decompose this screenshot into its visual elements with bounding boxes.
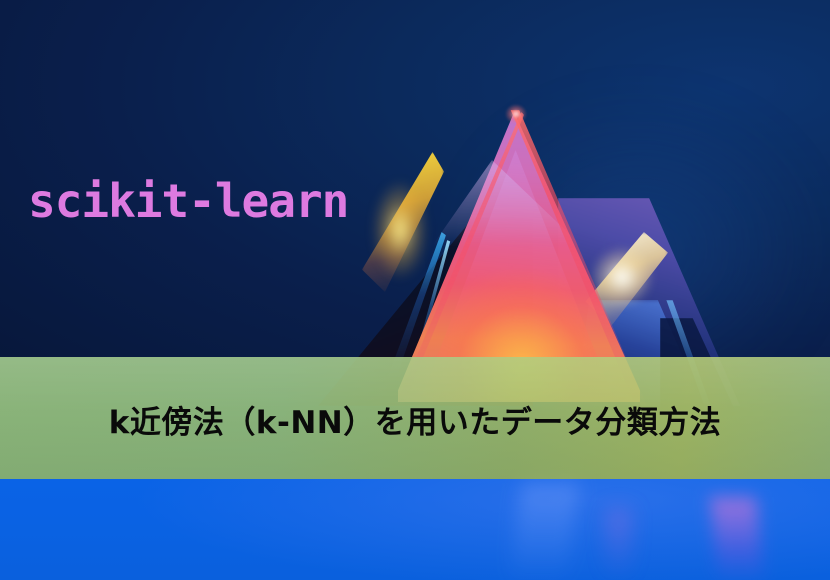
floor-streak-mid: [606, 509, 631, 580]
scikit-learn-wordmark: scikit-learn: [28, 178, 348, 224]
background-photo: [0, 0, 830, 580]
prism-yellow-flare-core: [372, 180, 428, 280]
floor-streak-magenta: [710, 497, 763, 580]
page-title: k近傍法（k-NN）を用いたデータ分類方法: [109, 397, 722, 442]
prism-apex-spark: [505, 104, 527, 124]
promo-card: k近傍法（k-NN）を用いたデータ分類方法 scikit-learn: [0, 0, 830, 580]
title-band: k近傍法（k-NN）を用いたデータ分類方法: [0, 357, 830, 479]
floor-streak-left: [508, 483, 578, 580]
blue-floor: [0, 479, 830, 580]
